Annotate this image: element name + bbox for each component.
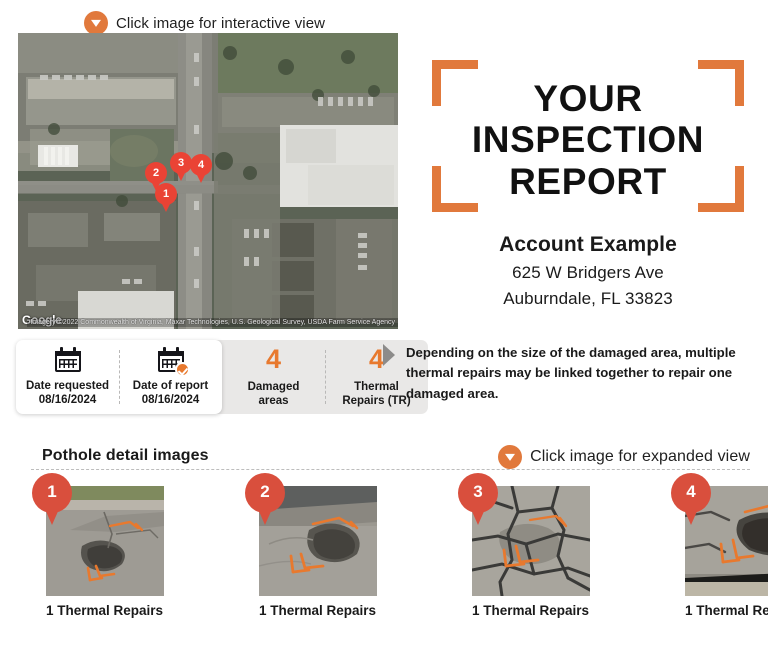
thumbnail-pin-1: 1 [32, 473, 72, 525]
map-pin-label: 3 [170, 152, 192, 173]
section-title-pothole-details: Pothole detail images [42, 447, 209, 465]
stat-damaged-areas-label: Damaged areas [248, 380, 300, 409]
pothole-thumbnail-2[interactable]: 2 1 Thermal Repairs [259, 486, 377, 618]
map-pin-2[interactable]: 2 [145, 162, 167, 191]
expand-view-hint: Click image for expanded view [498, 445, 750, 469]
expand-hint-label: Click image for expanded view [530, 448, 750, 466]
title-line-3: REPORT [424, 161, 752, 202]
stat-date-of-report: Date of report 08/16/2024 [119, 340, 222, 414]
thumbnail-caption-3: 1 Thermal Repairs [472, 603, 590, 618]
calendar-check-icon [158, 347, 184, 372]
stat-thermal-repairs-label: Thermal Repairs (TR) [342, 380, 410, 409]
map-pin-4[interactable]: 4 [190, 154, 212, 183]
thumbnail-caption-1: 1 Thermal Repairs [46, 603, 164, 618]
thermal-repair-note: Depending on the size of the damaged are… [406, 343, 754, 404]
thumbnail-pin-label: 2 [245, 473, 285, 511]
stats-counts-panel: 4 Damaged areas 4 Thermal Repairs (TR) [215, 340, 428, 414]
title-line-1: YOUR [424, 78, 752, 119]
stat-date-requested-label: Date requested 08/16/2024 [26, 379, 109, 408]
thumbnail-pin-4: 4 [671, 473, 711, 525]
callout-arrow-icon [383, 344, 395, 366]
thumbnail-pin-2: 2 [245, 473, 285, 525]
thumbnail-pin-label: 1 [32, 473, 72, 511]
section-divider [31, 469, 750, 470]
stat-damaged-areas: 4 Damaged areas [222, 340, 325, 414]
stat-date-of-report-label: Date of report 08/16/2024 [133, 379, 208, 408]
pothole-thumbnail-1[interactable]: 1 1 Thermal Repairs [46, 486, 164, 618]
thumbnail-caption-2: 1 Thermal Repairs [259, 603, 377, 618]
pothole-thumbnail-list: 1 1 Thermal Repairs [46, 486, 768, 618]
account-info: Account Example 625 W Bridgers Ave Aubur… [424, 233, 752, 309]
map-attribution: Imagery ©2022 Commonwealth of Virginia, … [27, 318, 398, 327]
inspection-report-page: Click image for interactive view [0, 0, 768, 652]
map-hint-label: Click image for interactive view [116, 15, 325, 32]
stat-date-requested: Date requested 08/16/2024 [16, 340, 119, 414]
report-title-block: YOUR INSPECTION REPORT [424, 52, 752, 220]
map-interactive-hint: Click image for interactive view [84, 11, 325, 35]
calendar-icon [55, 347, 81, 372]
map-pin-label: 2 [145, 162, 167, 183]
pin-down-icon [498, 445, 522, 469]
thumbnail-caption-4: 1 Thermal Repairs [685, 603, 768, 618]
stats-dates-card: Date requested 08/16/2024 Date of report… [16, 340, 222, 414]
account-address-line-1: 625 W Bridgers Ave [424, 263, 752, 283]
title-line-2: INSPECTION [424, 119, 752, 160]
map-pin-3[interactable]: 3 [170, 152, 192, 181]
pin-down-icon [84, 11, 108, 35]
page-title: YOUR INSPECTION REPORT [424, 78, 752, 202]
account-name: Account Example [424, 233, 752, 257]
account-address-line-2: Auburndale, FL 33823 [424, 289, 752, 309]
pothole-thumbnail-3[interactable]: 3 1 Thermal Repairs [472, 486, 590, 618]
pothole-thumbnail-4[interactable]: 4 1 Thermal Repairs [685, 486, 768, 618]
thumbnail-pin-label: 3 [458, 473, 498, 511]
thumbnail-pin-label: 4 [671, 473, 711, 511]
satellite-map[interactable]: 1 2 3 4 Google Imagery ©2022 Commonwealt… [18, 33, 398, 329]
stat-damaged-areas-value: 4 [266, 346, 281, 373]
summary-stats-bar: Date requested 08/16/2024 Date of report… [16, 340, 428, 414]
map-pin-label: 4 [190, 154, 212, 175]
stat-thermal-repairs-value: 4 [369, 346, 384, 373]
thumbnail-pin-3: 3 [458, 473, 498, 525]
